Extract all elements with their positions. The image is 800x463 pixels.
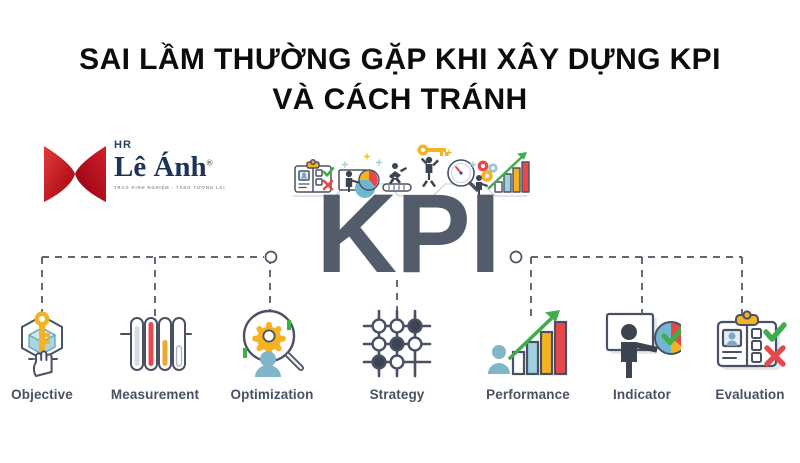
logo-wordmark: HR Lê Ánh® TRAO KINH NGHIỆM - TĂNG TƯƠNG… [114,140,244,190]
page-title: SAI LẦM THƯỜNG GẶP KHI XÂY DỰNG KPI VÀ C… [0,40,800,120]
pillar-indicator[interactable]: Indicator [586,300,698,418]
title-line-2: VÀ CÁCH TRÁNH [0,80,800,120]
key-in-cube-with-hand-icon [0,300,98,378]
presentation-pie-chart-icon [586,300,698,378]
logo-name-text: Lê Ánh [114,151,207,183]
pillar-strategy[interactable]: Strategy [341,300,453,418]
pillar-performance[interactable]: Performance [472,300,584,418]
bar-chart-rising-arrow-icon [472,300,584,378]
logo-mark-icon [42,144,108,204]
pillar-label: Evaluation [694,387,800,402]
pillar-label: Indicator [586,387,698,402]
pillar-objective[interactable]: Objective [0,300,98,418]
go-board-stones-icon [341,300,453,378]
pillar-label: Performance [472,387,584,402]
pillar-evaluation[interactable]: Evaluation [694,300,800,418]
pillar-label: Objective [0,387,98,402]
pillar-measurement[interactable]: Measurement [99,300,211,418]
pillar-label: Optimization [216,387,328,402]
logo-prefix: HR [114,140,244,151]
registered-mark-icon: ® [207,158,213,167]
test-tubes-gauge-icon [99,300,211,378]
clipboard-check-cross-icon [694,300,800,378]
connector-node-left [266,252,277,263]
logo-tagline: TRAO KINH NGHIỆM - TĂNG TƯƠNG LAI [114,185,244,190]
pillar-label: Strategy [341,387,453,402]
logo-name: Lê Ánh® [114,152,244,182]
infographic-canvas: SAI LẦM THƯỜNG GẶP KHI XÂY DỰNG KPI VÀ C… [0,0,800,463]
connector-node-right [511,252,522,263]
pillar-optimization[interactable]: Optimization [216,300,328,418]
title-line-1: SAI LẦM THƯỜNG GẶP KHI XÂY DỰNG KPI [0,40,800,80]
kpi-pillars-row: Objective [0,300,800,420]
magnifier-gear-person-icon [216,300,328,378]
brand-logo: HR Lê Ánh® TRAO KINH NGHIỆM - TĂNG TƯƠNG… [42,140,242,212]
pillar-label: Measurement [99,387,211,402]
